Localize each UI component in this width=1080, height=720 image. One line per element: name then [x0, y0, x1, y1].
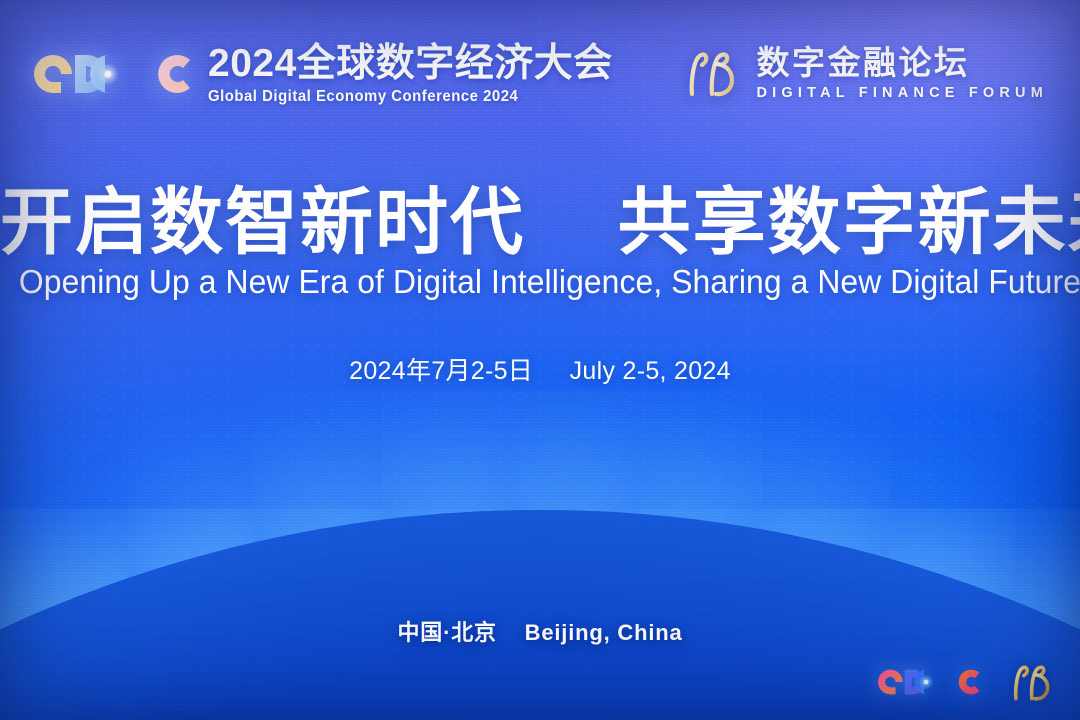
- conference-title-en: Global Digital Economy Conference 2024: [208, 89, 597, 105]
- header-left-text: 2024全球数字经济大会 Global Digital Economy Conf…: [208, 44, 613, 105]
- ff-monogram-icon: [682, 46, 740, 100]
- headline-part-2: 共享数字新未来: [618, 182, 1080, 263]
- header-right-text: 数字金融论坛 DIGITAL FINANCE FORUM: [756, 46, 1048, 101]
- forum-title-cn: 数字金融论坛: [756, 46, 1048, 79]
- date-en: July 2-5, 2024: [570, 357, 731, 385]
- header-left-logo-group: 2024全球数字经济大会 Global Digital Economy Conf…: [34, 44, 613, 105]
- ff-monogram-icon: [1008, 660, 1054, 704]
- location-en: Beijing, China: [525, 620, 683, 645]
- event-location: 中国·北京 Beijing, China: [0, 615, 1080, 647]
- location-cn: 中国·北京: [397, 620, 496, 645]
- forum-title-en: DIGITAL FINANCE FORUM: [756, 86, 1048, 101]
- main-subheadline: Opening Up a New Era of Digital Intellig…: [19, 263, 1061, 302]
- gdec-logo-icon: [878, 663, 982, 701]
- header-right-logo-group: 数字金融论坛 DIGITAL FINANCE FORUM: [682, 46, 1048, 101]
- conference-title-cn: 2024全球数字经济大会: [208, 44, 613, 83]
- headline-part-1: 开启数智新时代: [0, 182, 525, 263]
- gdec-logo-icon: [34, 45, 194, 103]
- footer-logo-group: [878, 660, 1054, 704]
- date-cn: 2024年7月2-5日: [349, 357, 533, 385]
- conference-backdrop: 2024全球数字经济大会 Global Digital Economy Conf…: [0, 0, 1080, 720]
- event-dateline: 2024年7月2-5日 July 2-5, 2024: [0, 351, 1080, 387]
- main-headline: 开启数智新时代 共享数字新未来: [0, 186, 1080, 260]
